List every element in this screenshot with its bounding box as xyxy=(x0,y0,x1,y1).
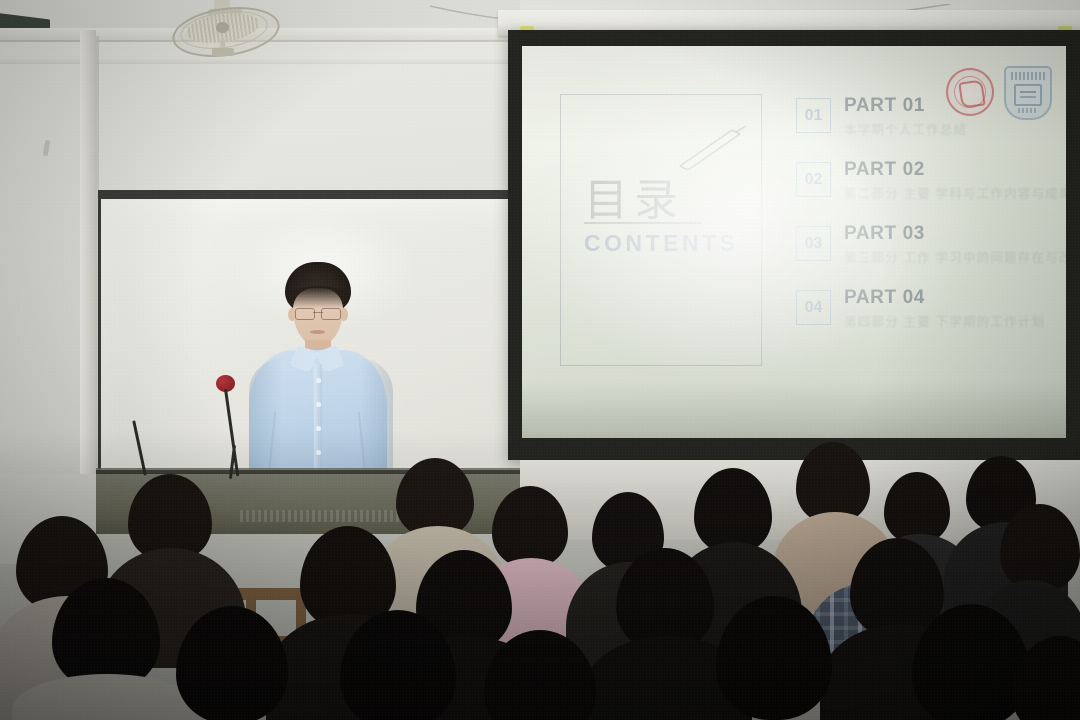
presenter-ear-right xyxy=(340,308,348,321)
part-number-badge: 03 xyxy=(796,226,831,261)
part-subtitle: 第二部分 主要 学科与工作内容与成果 xyxy=(844,183,1066,202)
part-row: 03 PART 03 第三部分 工作 学习中的问题存在与改进 xyxy=(796,222,1066,286)
contents-title-cn: 目录 xyxy=(584,164,684,228)
part-row: 01 PART 01 本学期个人工作总结 xyxy=(796,94,1066,158)
presenter-hair-fringe xyxy=(287,286,349,308)
parts-list: 01 PART 01 本学期个人工作总结 02 PART 02 第二部分 主要 … xyxy=(796,94,1066,350)
fan-hub xyxy=(216,22,229,33)
part-subtitle: 第三部分 工作 学习中的问题存在与改进 xyxy=(844,247,1066,266)
audience xyxy=(0,430,1080,720)
part-number-badge: 04 xyxy=(796,290,831,325)
contents-title-en: CONTENTS xyxy=(584,230,739,257)
part-row: 04 PART 04 第四部分 主要 下学期的工作计划 xyxy=(796,286,1066,350)
audience-head xyxy=(1000,504,1080,592)
shield-top-text xyxy=(1011,72,1045,80)
contents-divider xyxy=(584,222,702,224)
presenter-glasses-icon xyxy=(295,308,341,318)
part-title: PART 03 xyxy=(844,223,925,245)
wall-trim-secondary xyxy=(0,58,520,64)
presenter-mouth xyxy=(310,330,325,334)
part-number-badge: 02 xyxy=(796,162,831,197)
part-title: PART 01 xyxy=(844,95,925,117)
shirt-button xyxy=(316,402,321,407)
slide-contents: 目录 CONTENTS xyxy=(522,46,1066,438)
part-subtitle: 本学期个人工作总结 xyxy=(844,119,967,138)
lecture-hall-photo: 目录 CONTENTS xyxy=(0,0,1080,720)
audience-head xyxy=(492,486,568,568)
part-number-badge: 01 xyxy=(796,98,831,133)
pencil-icon xyxy=(674,124,752,170)
part-row: 02 PART 02 第二部分 主要 学科与工作内容与成果 xyxy=(796,158,1066,222)
shirt-button xyxy=(316,378,321,383)
fan-bracket xyxy=(212,48,234,56)
screen-surface: 目录 CONTENTS xyxy=(522,46,1066,438)
part-subtitle: 第四部分 主要 下学期的工作计划 xyxy=(844,311,1045,330)
part-title: PART 04 xyxy=(844,287,925,309)
projection-screen: 目录 CONTENTS xyxy=(508,30,1080,460)
part-title: PART 02 xyxy=(844,159,925,181)
ceiling-fan-icon xyxy=(168,0,280,54)
glasses-bridge xyxy=(313,312,323,313)
